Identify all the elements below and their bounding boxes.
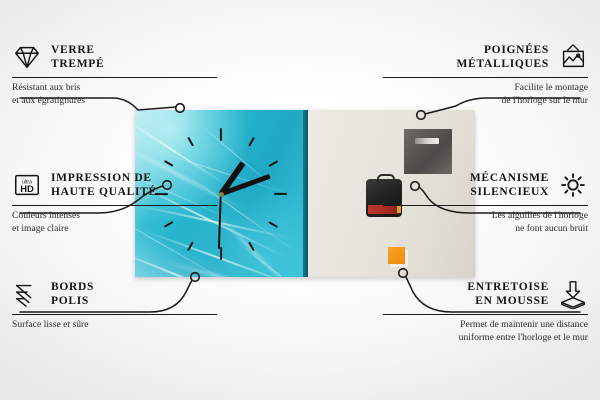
feature-title: BORDS POLIS <box>51 280 94 308</box>
feature-description: Couleurs intenses et image claire <box>12 210 217 235</box>
feature-divider <box>383 205 588 206</box>
feature-header: MÉCANISME SILENCIEUX <box>383 168 588 202</box>
feature-description: Facilite le montage de l'horloge sur le … <box>383 82 588 107</box>
diamond-icon <box>12 42 42 72</box>
hanging-frame-icon <box>558 42 588 72</box>
feature-divider <box>383 314 588 315</box>
feature-mecanisme-silencieux: MÉCANISME SILENCIEUX Les aiguilles de l'… <box>383 168 588 236</box>
feature-description: Résistant aux bris et aux égratignures <box>12 82 217 107</box>
feature-title: POIGNÉES MÉTALLIQUES <box>457 43 549 71</box>
feature-divider <box>383 77 588 78</box>
feature-header: BORDS POLIS <box>12 277 217 311</box>
product-infographic: VERRE TREMPÉ Résistant aux bris et aux é… <box>0 0 600 400</box>
feature-bords-polis: BORDS POLIS Surface lisse et sûre <box>12 277 217 332</box>
feature-poignees-metalliques: POIGNÉES MÉTALLIQUES Facilite le montage… <box>383 40 588 108</box>
feature-divider <box>12 77 217 78</box>
feature-description: Les aiguilles de l'horloge ne font aucun… <box>383 210 588 235</box>
gear-icon <box>558 170 588 200</box>
feature-description: Surface lisse et sûre <box>12 319 217 332</box>
feature-header: ultra HD IMPRESSION DE HAUTE QUALITÉ <box>12 168 217 202</box>
feature-divider <box>12 314 217 315</box>
feature-description: Permet de maintenir une distance uniform… <box>383 319 588 344</box>
ultra-hd-icon: ultra HD <box>12 170 42 200</box>
svg-text:HD: HD <box>20 184 34 194</box>
foam-spacer-pad <box>388 247 405 264</box>
feature-title: IMPRESSION DE HAUTE QUALITÉ <box>51 171 157 199</box>
feature-title: MÉCANISME SILENCIEUX <box>470 171 549 199</box>
feature-header: ENTRETOISE EN MOUSSE <box>383 277 588 311</box>
feature-verre-trempe: VERRE TREMPÉ Résistant aux bris et aux é… <box>12 40 217 108</box>
feature-divider <box>12 205 217 206</box>
feature-header: VERRE TREMPÉ <box>12 40 217 74</box>
feature-title: VERRE TREMPÉ <box>51 43 104 71</box>
foam-spacer-icon <box>558 279 588 309</box>
feature-header: POIGNÉES MÉTALLIQUES <box>383 40 588 74</box>
polished-edges-icon <box>12 279 42 309</box>
hanger-slot <box>415 138 439 144</box>
feature-entretoise-en-mousse: ENTRETOISE EN MOUSSE Permet de maintenir… <box>383 277 588 345</box>
feature-title: ENTRETOISE EN MOUSSE <box>467 280 549 308</box>
feature-impression-haute-qualite: ultra HD IMPRESSION DE HAUTE QUALITÉ Cou… <box>12 168 217 236</box>
